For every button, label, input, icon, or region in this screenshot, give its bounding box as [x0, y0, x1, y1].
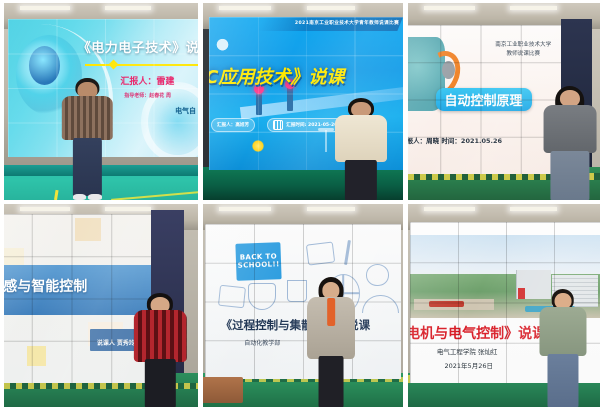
presenter-chip-label: 汇报人：高旭芳	[217, 122, 249, 128]
led-video-wall: 传感与智能控制 说课人 贾秀玲	[4, 214, 151, 382]
sun-glow-icon	[252, 140, 264, 152]
wooden-table	[203, 377, 243, 403]
torso	[62, 96, 112, 140]
room-background: 2021南京工业职业技术大学青年教师说课比赛 C应用技术》说课 汇报人：高旭芳 …	[203, 3, 403, 200]
slide-department: 自动化教学部	[244, 338, 280, 347]
time-chip-label: 汇报时间: 2021-05-26	[286, 122, 337, 128]
legs	[73, 138, 101, 197]
gripper-icon	[442, 61, 455, 79]
slide-org-line1: 南京工业职业技术大学	[495, 41, 551, 49]
back-to-school-board: BACK TO SCHOOL!!	[236, 242, 282, 281]
notebook-doodle-icon	[218, 285, 246, 308]
room-background: 南京工业职业技术大学 教师说课比赛 自动控制原理 汇报人：周晓 时间：2021.…	[408, 3, 600, 200]
collage-photo-bottom-right[interactable]: 电机与电气控制》说课 电气工程学院 张灿红 2021年5月26日	[408, 204, 600, 407]
slide-presenter: 汇报人：雷建	[120, 74, 174, 87]
mosaic-swatch-1	[75, 218, 100, 242]
photo-collage: 《电力电子技术》说课 汇报人：雷建 指导老师：赵春花 周 统一门课程 电气自	[0, 0, 600, 400]
slide-department: 电气工程学院 张灿红	[437, 346, 498, 356]
collage-photo-top-right[interactable]: 南京工业职业技术大学 教师说课比赛 自动控制原理 汇报人：周晓 时间：2021.…	[408, 3, 600, 200]
floor-line-2-icon	[111, 191, 198, 200]
presenter-figure	[62, 78, 112, 200]
slide-meta: 汇报人：周晓 时间：2021.05.26	[408, 135, 502, 145]
slide-title: 自动控制原理	[436, 88, 532, 111]
slide-date: 2021年5月26日	[445, 360, 493, 370]
mosaic-swatch-2	[4, 248, 24, 265]
slide-subtitle: 指导老师：赵春花 周	[124, 92, 171, 99]
led-video-wall: BACK TO SCHOOL!! 《过程控制与集散系统》说课 自动化教学部	[205, 224, 401, 378]
room-background: 传感与智能控制 说课人 贾秀玲	[4, 204, 198, 407]
slide-org: 南京工业职业技术大学 教师说课比赛	[495, 41, 551, 58]
presenter-chip: 汇报人：高旭芳	[211, 118, 255, 132]
presenter-figure	[539, 289, 586, 407]
globe-icon	[29, 46, 60, 85]
apple-doodle-icon	[366, 264, 390, 286]
slide-banner-text: 2021南京工业职业技术大学青年教师说课比赛	[295, 20, 399, 26]
calendar-icon	[273, 120, 283, 130]
room-background: BACK TO SCHOOL!! 《过程控制与集散系统》说课 自动化教学部	[203, 204, 403, 407]
collage-photo-top-left[interactable]: 《电力电子技术》说课 汇报人：雷建 指导老师：赵春花 周 统一门课程 电气自	[4, 3, 198, 200]
collage-photo-top-center[interactable]: 2021南京工业职业技术大学青年教师说课比赛 C应用技术》说课 汇报人：高旭芳 …	[203, 3, 403, 200]
slide-title: 电机与电气控制》说课	[410, 323, 546, 343]
back-to-school-label: BACK TO SCHOOL!!	[236, 253, 282, 270]
legs	[319, 356, 344, 407]
slide-title: C应用技术》说课	[209, 63, 344, 89]
slide-title: 传感与智能控制	[4, 276, 87, 296]
shoe-right	[88, 194, 101, 200]
collage-photo-bottom-left[interactable]: 传感与智能控制 说课人 贾秀玲	[4, 204, 198, 407]
scarf	[327, 298, 335, 327]
presenter-figure	[134, 293, 186, 407]
street-lamp-icon	[325, 130, 327, 152]
slide-org-line2: 教师说课比赛	[495, 50, 551, 58]
divider-line	[85, 64, 198, 66]
legs	[550, 151, 589, 200]
torso	[335, 115, 387, 162]
legs	[345, 160, 377, 200]
slide-tag-right: 电气自	[175, 106, 196, 116]
traffic-light-2-icon	[287, 86, 293, 111]
mosaic-swatch-3	[27, 346, 46, 366]
flower-bed	[429, 301, 464, 307]
presenter-figure	[543, 86, 596, 200]
book-doodle-icon	[306, 241, 336, 265]
presenter-figure	[307, 277, 355, 407]
presenter-figure	[335, 98, 387, 200]
slide-title: 《电力电子技术》说课	[78, 37, 198, 56]
protractor-doodle-icon	[362, 295, 399, 313]
pen-doodle-icon	[344, 240, 350, 265]
pencil-cup-doodle-icon	[287, 280, 307, 302]
university-logo-icon	[211, 37, 234, 54]
legs	[547, 354, 578, 407]
bag-doodle-icon	[248, 283, 275, 310]
room-background: 《电力电子技术》说课 汇报人：雷建 指导老师：赵春花 周 统一门课程 电气自	[4, 3, 198, 200]
floor-line-icon	[54, 190, 59, 200]
traffic-light-icon	[256, 91, 262, 116]
torso	[539, 307, 586, 356]
red-sign-icon	[518, 288, 526, 299]
collage-photo-bottom-center[interactable]: BACK TO SCHOOL!! 《过程控制与集散系统》说课 自动化教学部	[203, 204, 403, 407]
led-video-wall: 南京工业职业技术大学 教师说课比赛 自动控制原理 汇报人：周晓 时间：2021.…	[408, 25, 561, 175]
room-background: 电机与电气控制》说课 电气工程学院 张灿红 2021年5月26日	[408, 204, 600, 407]
shoe-left	[73, 194, 86, 200]
torso	[543, 105, 596, 153]
torso	[134, 310, 186, 361]
slide-nameplate-label: 说课人 贾秀玲	[97, 340, 135, 347]
